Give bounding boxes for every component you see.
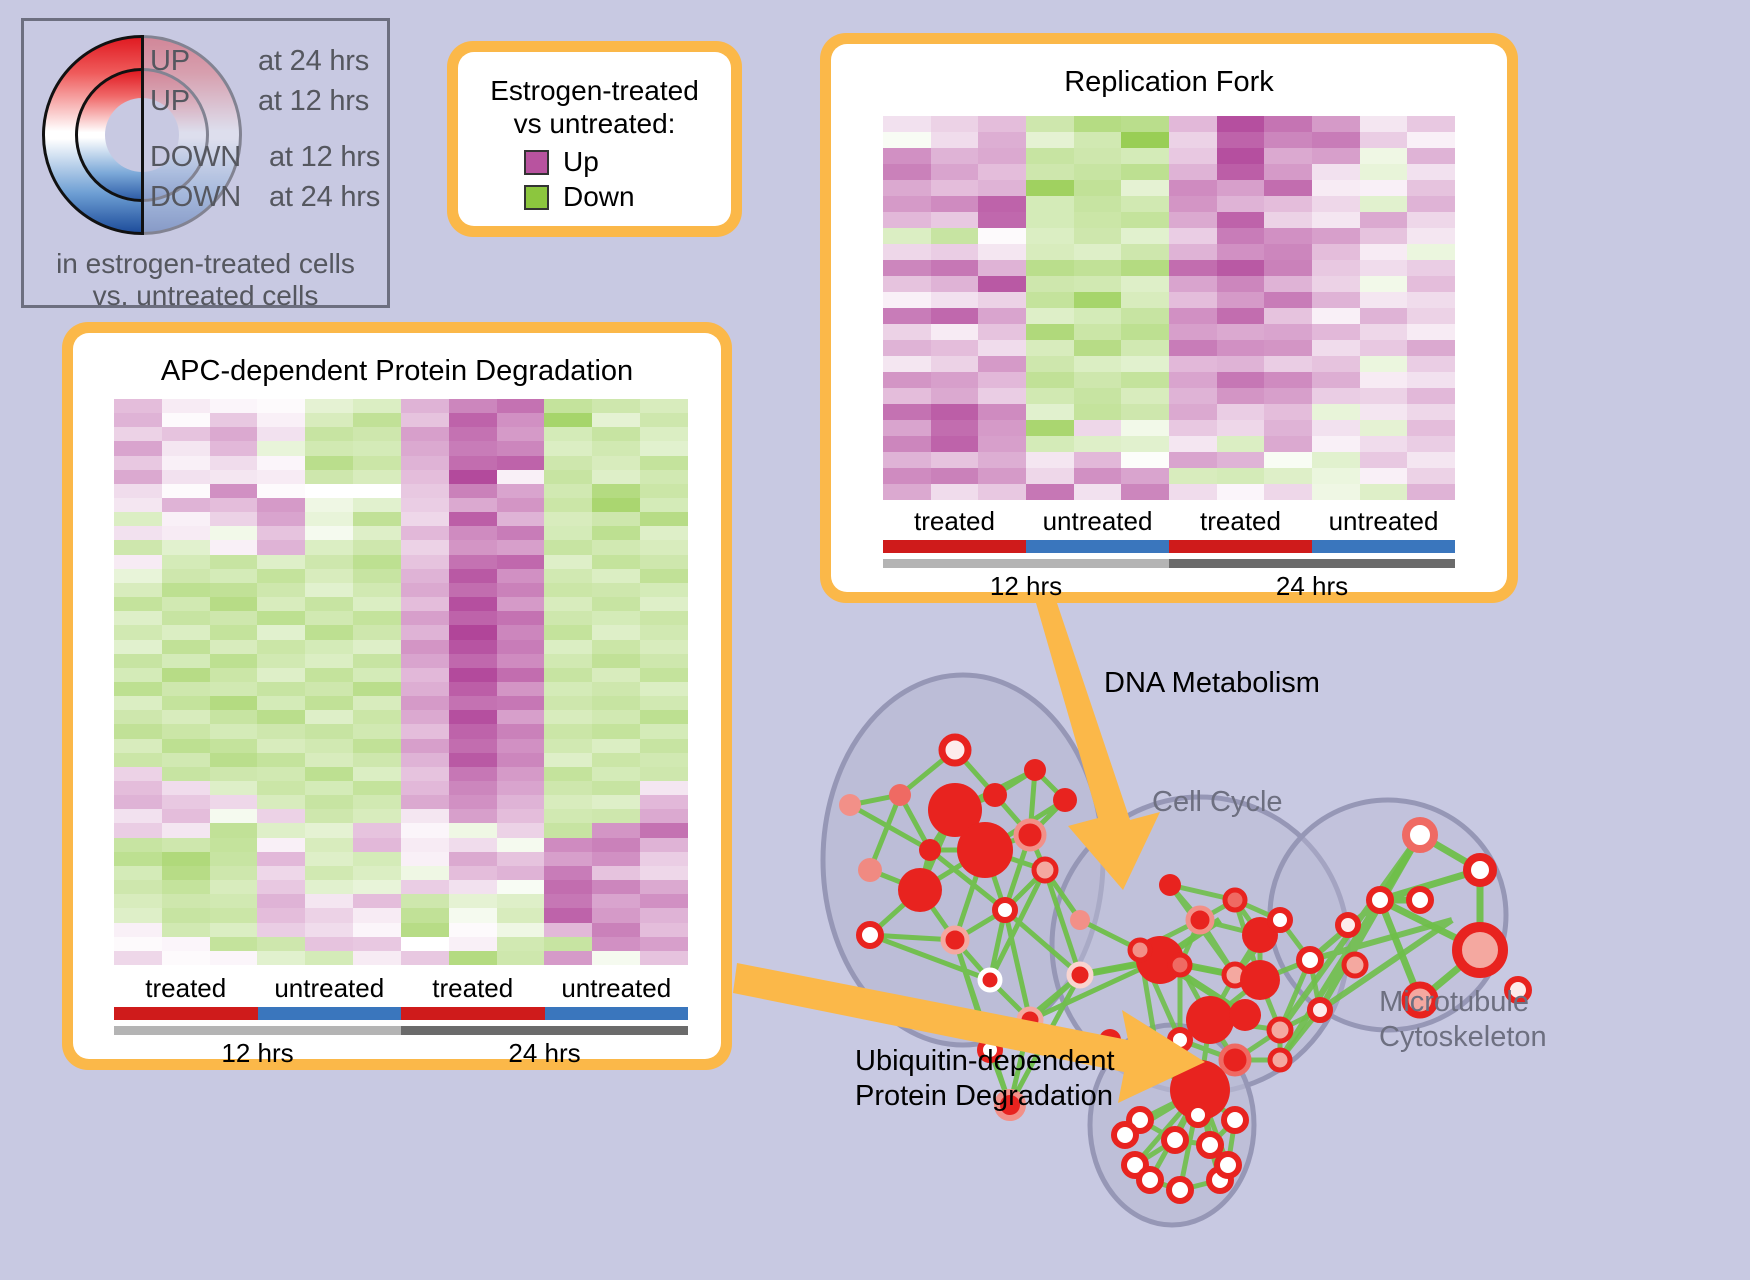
heatmap-cell [883, 132, 931, 148]
heatmap-cell [114, 908, 162, 922]
heatmap-cell [1407, 324, 1455, 340]
heatmap-cell [978, 260, 1026, 276]
heatmap-cell [1312, 260, 1360, 276]
heatmap-cell [449, 441, 497, 455]
heatmap-cell [257, 413, 305, 427]
heatmap-cell [544, 484, 592, 498]
heatmap-cell [162, 555, 210, 569]
heatmap-cell [1217, 436, 1265, 452]
heatmap-cell [1407, 276, 1455, 292]
apc-time-bars [114, 1026, 688, 1035]
heatmap-cell [1360, 196, 1408, 212]
heatmap-cell [931, 212, 979, 228]
heatmap-cell [449, 767, 497, 781]
heatmap-cell [978, 196, 1026, 212]
heatmap-cell [449, 866, 497, 880]
heatmap-cell [1169, 468, 1217, 484]
heatmap-cell [162, 823, 210, 837]
heatmap-cell [401, 682, 449, 696]
heatmap-cell [640, 526, 688, 540]
heatmap-cell [978, 388, 1026, 404]
heatmap-cell [1074, 452, 1122, 468]
heatmap-cell [353, 908, 401, 922]
heatmap-cell [1264, 388, 1312, 404]
heatmap-cell [1121, 196, 1169, 212]
heatmap-cell [305, 753, 353, 767]
heatmap-cell [401, 739, 449, 753]
heatmap-cell [401, 696, 449, 710]
heatmap-cell [497, 668, 545, 682]
heatmap-cell [353, 498, 401, 512]
heatmap-cell [210, 795, 258, 809]
heatmap-cell [1121, 244, 1169, 260]
heatmap-cell [1312, 292, 1360, 308]
heatmap-cell [449, 640, 497, 654]
heatmap-cell [978, 324, 1026, 340]
heatmap-cell [114, 880, 162, 894]
heatmap-cell [1169, 388, 1217, 404]
heatmap-cell [592, 611, 640, 625]
heatmap-cell [978, 356, 1026, 372]
heatmap-cell [1121, 116, 1169, 132]
heatmap-cell [449, 951, 497, 965]
heatmap-cell [497, 696, 545, 710]
heatmap-cell [592, 682, 640, 696]
heatmap-cell [640, 498, 688, 512]
heatmap-cell [114, 654, 162, 668]
heatmap-cell [305, 640, 353, 654]
apc-panel-title: APC-dependent Protein Degradation [73, 355, 721, 388]
heatmap-cell [1360, 388, 1408, 404]
heatmap-cell [592, 880, 640, 894]
heatmap-cell [353, 654, 401, 668]
heatmap-cell [1074, 132, 1122, 148]
heatmap-cell [401, 908, 449, 922]
heatmap-cell [1360, 132, 1408, 148]
heatmap-cell [114, 682, 162, 696]
heatmap-cell [1360, 356, 1408, 372]
heatmap-cell [883, 420, 931, 436]
heatmap-cell [162, 470, 210, 484]
group-label: untreated [1026, 506, 1169, 538]
heatmap-cell [257, 654, 305, 668]
heatmap-cell [883, 404, 931, 420]
heatmap-cell [449, 427, 497, 441]
heatmap-cell [1074, 196, 1122, 212]
legend-time-up-24: at 24 hrs [258, 45, 369, 78]
heatmap-cell [1074, 308, 1122, 324]
heatmap-cell [210, 540, 258, 554]
heatmap-cell [1026, 324, 1074, 340]
heatmap-cell [162, 739, 210, 753]
heatmap-cell [592, 583, 640, 597]
heatmap-cell [401, 413, 449, 427]
heatmap-cell [210, 696, 258, 710]
heatmap-cell [640, 739, 688, 753]
heatmap-cell [1264, 404, 1312, 420]
heatmap-cell [1074, 468, 1122, 484]
heatmap-cell [305, 526, 353, 540]
heatmap-cell [883, 356, 931, 372]
heatmap-cell [1264, 372, 1312, 388]
heatmap-cell [931, 276, 979, 292]
time-label: 12 hrs [114, 1038, 401, 1068]
heatmap-cell [305, 597, 353, 611]
heatmap-cell [1074, 180, 1122, 196]
heatmap-cell [401, 668, 449, 682]
key-label-down: Down [563, 181, 635, 213]
heatmap-cell [401, 823, 449, 837]
heatmap-cell [305, 555, 353, 569]
heatmap-cell [1264, 468, 1312, 484]
heatmap-cell [1407, 484, 1455, 500]
heatmap-cell [640, 951, 688, 965]
heatmap-cell [401, 441, 449, 455]
heatmap-cell [931, 484, 979, 500]
heatmap-cell [1074, 244, 1122, 260]
heatmap-cell [640, 923, 688, 937]
heatmap-cell [640, 724, 688, 738]
heatmap-cell [210, 767, 258, 781]
heatmap-cell [1407, 292, 1455, 308]
heatmap-cell [1407, 308, 1455, 324]
heatmap-cell [257, 640, 305, 654]
heatmap-cell [1312, 212, 1360, 228]
protein-network-graph [780, 620, 1540, 1280]
heatmap-cell [1074, 260, 1122, 276]
heatmap-cell [305, 668, 353, 682]
heatmap-cell [1121, 420, 1169, 436]
heatmap-cell [497, 569, 545, 583]
heatmap-cell [1264, 148, 1312, 164]
heatmap-cell [640, 767, 688, 781]
heatmap-cell [162, 880, 210, 894]
heatmap-cell [978, 132, 1026, 148]
heatmap-cell [353, 710, 401, 724]
heatmap-cell [114, 696, 162, 710]
heatmap-cell [640, 456, 688, 470]
heatmap-cell [1312, 420, 1360, 436]
heatmap-cell [883, 180, 931, 196]
heatmap-cell [544, 583, 592, 597]
heatmap-cell [1312, 164, 1360, 180]
heatmap-cell [401, 795, 449, 809]
heatmap-cell [1169, 244, 1217, 260]
heatmap-cell [1360, 340, 1408, 356]
heatmap-cell [640, 441, 688, 455]
heatmap-cell [257, 399, 305, 413]
heatmap-cell [1360, 468, 1408, 484]
heatmap-cell [1407, 196, 1455, 212]
heatmap-cell [353, 555, 401, 569]
heatmap-cell [162, 710, 210, 724]
time-label: 24 hrs [1169, 571, 1455, 601]
heatmap-cell [353, 682, 401, 696]
heatmap-cell [497, 625, 545, 639]
heatmap-cell [449, 498, 497, 512]
heatmap-cell [162, 809, 210, 823]
heatmap-cell [449, 710, 497, 724]
heatmap-cell [353, 894, 401, 908]
heatmap-cell [497, 526, 545, 540]
heatmap-cell [401, 512, 449, 526]
treatment-bar [883, 540, 1026, 553]
heatmap-cell [257, 753, 305, 767]
heatmap-cell [257, 739, 305, 753]
heatmap-cell [1312, 372, 1360, 388]
heatmap-cell [449, 611, 497, 625]
heatmap-cell [449, 654, 497, 668]
legend-state-up-24: UP [150, 45, 190, 78]
heatmap-cell [497, 441, 545, 455]
heatmap-cell [114, 540, 162, 554]
apc-heatmap [114, 399, 688, 965]
heatmap-cell [1169, 404, 1217, 420]
heatmap-cell [305, 569, 353, 583]
key-row-down: Down [524, 181, 713, 213]
legend-time-up-12: at 12 hrs [258, 85, 369, 118]
heatmap-cell [592, 555, 640, 569]
heatmap-cell [1312, 196, 1360, 212]
heatmap-cell [931, 228, 979, 244]
heatmap-cell [544, 724, 592, 738]
heatmap-cell [162, 427, 210, 441]
heatmap-cell [257, 908, 305, 922]
heatmap-cell [1074, 340, 1122, 356]
heatmap-cell [162, 540, 210, 554]
heatmap-cell [162, 611, 210, 625]
heatmap-cell [305, 583, 353, 597]
heatmap-cell [114, 823, 162, 837]
heatmap-cell [640, 540, 688, 554]
heatmap-cell [931, 116, 979, 132]
heatmap-cell [353, 569, 401, 583]
heatmap-cell [1121, 452, 1169, 468]
heatmap-cell [1026, 372, 1074, 388]
heatmap-cell [353, 951, 401, 965]
heatmap-cell [1264, 180, 1312, 196]
heatmap-cell [401, 583, 449, 597]
heatmap-cell [210, 413, 258, 427]
heatmap-cell [162, 399, 210, 413]
heatmap-cell [1026, 116, 1074, 132]
heatmap-cell [544, 597, 592, 611]
heatmap-cell [305, 866, 353, 880]
heatmap-cell [114, 597, 162, 611]
heatmap-cell [162, 696, 210, 710]
legend-state-down-12: DOWN [150, 141, 241, 174]
apc-time-labels: 12 hrs24 hrs [114, 1038, 688, 1068]
heatmap-cell [449, 894, 497, 908]
heatmap-cell [162, 682, 210, 696]
heatmap-cell [640, 823, 688, 837]
heatmap-cell [210, 526, 258, 540]
heatmap-cell [931, 148, 979, 164]
circle-legend-box: UP UP DOWN DOWN at 24 hrs at 12 hrs at 1… [21, 18, 390, 308]
heatmap-cell [978, 116, 1026, 132]
heatmap-cell [257, 781, 305, 795]
heatmap-cell [1169, 420, 1217, 436]
heatmap-cell [883, 212, 931, 228]
heatmap-cell [497, 413, 545, 427]
heatmap-cell [1074, 484, 1122, 500]
heatmap-cell [592, 456, 640, 470]
heatmap-cell [1407, 228, 1455, 244]
heatmap-cell [401, 526, 449, 540]
heatmap-cell [1264, 308, 1312, 324]
heatmap-cell [497, 937, 545, 951]
key-title-line1: Estrogen-treated [476, 74, 713, 107]
heatmap-cell [1217, 468, 1265, 484]
heatmap-cell [353, 795, 401, 809]
heatmap-cell [257, 923, 305, 937]
heatmap-cell [449, 399, 497, 413]
heatmap-cell [544, 894, 592, 908]
heatmap-cell [592, 866, 640, 880]
heatmap-cell [1312, 148, 1360, 164]
heatmap-cell [592, 470, 640, 484]
heatmap-cell [497, 710, 545, 724]
heatmap-cell [114, 781, 162, 795]
heatmap-cell [544, 498, 592, 512]
heatmap-cell [1217, 308, 1265, 324]
heatmap-cell [883, 260, 931, 276]
heatmap-cell [305, 540, 353, 554]
heatmap-cell [592, 696, 640, 710]
heatmap-cell [1169, 484, 1217, 500]
heatmap-cell [1121, 484, 1169, 500]
heatmap-cell [1312, 228, 1360, 244]
heatmap-cell [883, 292, 931, 308]
heatmap-cell [497, 399, 545, 413]
heatmap-cell [1312, 484, 1360, 500]
heatmap-cell [1407, 116, 1455, 132]
heatmap-cell [1217, 372, 1265, 388]
heatmap-cell [114, 498, 162, 512]
heatmap-cell [210, 569, 258, 583]
heatmap-cell [497, 923, 545, 937]
heatmap-cell [544, 569, 592, 583]
time-bar [883, 559, 1169, 568]
heatmap-cell [353, 540, 401, 554]
heatmap-cell [210, 470, 258, 484]
heatmap-cell [114, 795, 162, 809]
heatmap-cell [1121, 228, 1169, 244]
treatment-bar [1169, 540, 1312, 553]
heatmap-cell [210, 724, 258, 738]
heatmap-cell [162, 894, 210, 908]
heatmap-cell [1026, 292, 1074, 308]
heatmap-cell [449, 753, 497, 767]
heatmap-cell [497, 555, 545, 569]
heatmap-cell [305, 795, 353, 809]
heatmap-cell [640, 710, 688, 724]
heatmap-cell [592, 937, 640, 951]
heatmap-cell [592, 441, 640, 455]
heatmap-cell [978, 420, 1026, 436]
heatmap-cell [305, 724, 353, 738]
heatmap-cell [305, 456, 353, 470]
heatmap-cell [1026, 276, 1074, 292]
heatmap-cell [210, 668, 258, 682]
heatmap-cell [1121, 340, 1169, 356]
heatmap-cell [305, 441, 353, 455]
heatmap-cell [1217, 164, 1265, 180]
heatmap-cell [210, 908, 258, 922]
heatmap-cell [497, 809, 545, 823]
heatmap-cell [1217, 404, 1265, 420]
heatmap-cell [1407, 404, 1455, 420]
heatmap-cell [1360, 420, 1408, 436]
cluster-label-cell-cycle: Cell Cycle [1152, 785, 1283, 820]
treatment-bar [258, 1007, 402, 1020]
heatmap-cell [210, 682, 258, 696]
heatmap-cell [592, 597, 640, 611]
heatmap-cell [592, 540, 640, 554]
heatmap-cell [640, 838, 688, 852]
heatmap-cell [449, 781, 497, 795]
heatmap-cell [978, 244, 1026, 260]
apc-treatment-bars [114, 1007, 688, 1020]
heatmap-cell [883, 468, 931, 484]
heatmap-cell [257, 470, 305, 484]
heatmap-cell [210, 894, 258, 908]
heatmap-cell [640, 682, 688, 696]
heatmap-cell [114, 923, 162, 937]
heatmap-cell [401, 781, 449, 795]
heatmap-cell [592, 923, 640, 937]
heatmap-cell [1169, 324, 1217, 340]
heatmap-cell [353, 625, 401, 639]
heatmap-cell [544, 413, 592, 427]
heatmap-cell [931, 196, 979, 212]
treatment-bar [401, 1007, 545, 1020]
heatmap-cell [544, 640, 592, 654]
key-label-up: Up [563, 146, 599, 178]
heatmap-cell [1360, 276, 1408, 292]
heatmap-cell [162, 795, 210, 809]
heatmap-cell [257, 710, 305, 724]
heatmap-cell [883, 244, 931, 260]
heatmap-cell [1121, 132, 1169, 148]
time-label: 24 hrs [401, 1038, 688, 1068]
heatmap-cell [640, 880, 688, 894]
heatmap-cell [210, 781, 258, 795]
heatmap-cell [544, 852, 592, 866]
heatmap-cell [210, 923, 258, 937]
heatmap-cell [449, 724, 497, 738]
heatmap-cell [931, 356, 979, 372]
heatmap-cell [210, 625, 258, 639]
heatmap-cell [544, 625, 592, 639]
heatmap-cell [1407, 372, 1455, 388]
heatmap-cell [162, 937, 210, 951]
heatmap-cell [931, 292, 979, 308]
heatmap-cell [114, 710, 162, 724]
heatmap-cell [931, 436, 979, 452]
heatmap-cell [931, 244, 979, 260]
heatmap-cell [592, 640, 640, 654]
heatmap-cell [1360, 228, 1408, 244]
heatmap-cell [162, 456, 210, 470]
heatmap-cell [449, 526, 497, 540]
heatmap-cell [1121, 308, 1169, 324]
group-label: untreated [1312, 506, 1455, 538]
heatmap-cell [305, 739, 353, 753]
heatmap-cell [353, 739, 401, 753]
heatmap-cell [640, 413, 688, 427]
heatmap-cell [210, 951, 258, 965]
